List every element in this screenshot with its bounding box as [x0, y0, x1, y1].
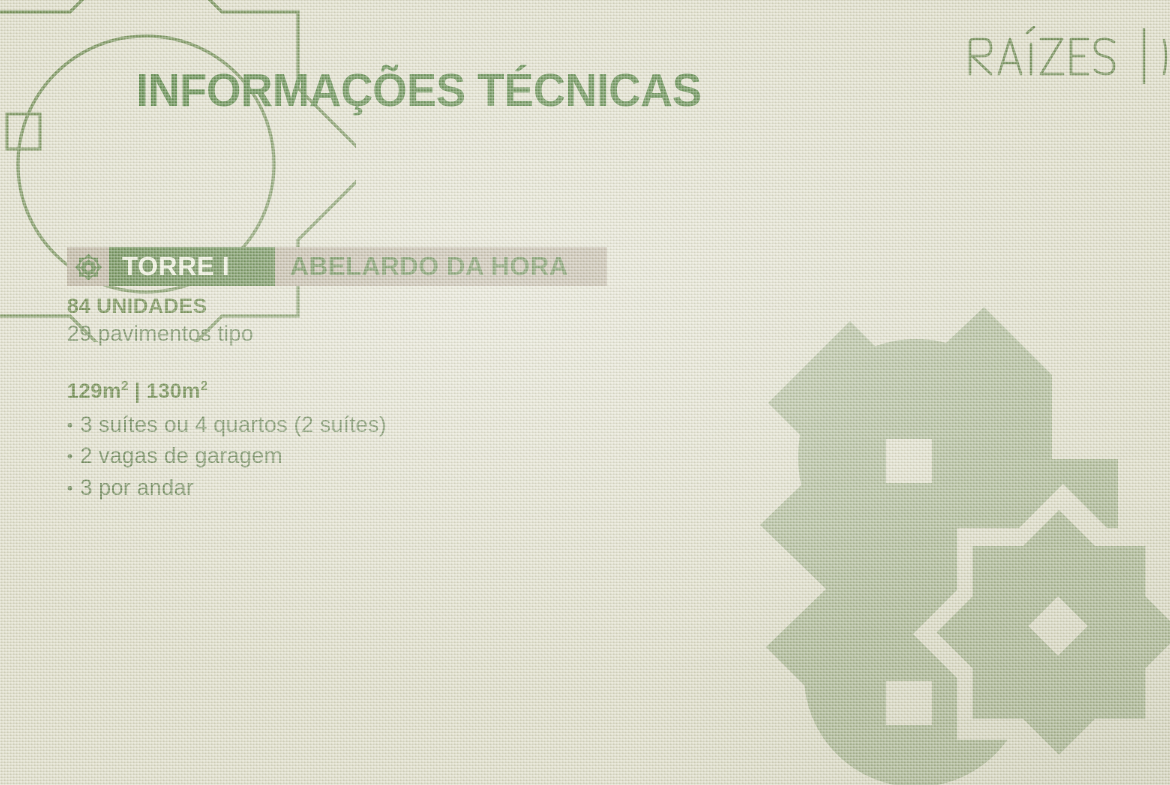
unit-areas: 129m2 | 130m2: [67, 378, 707, 404]
technical-info-content: TORRE I ABELARDO DA HORA 84 UNIDADES 29 …: [67, 247, 707, 503]
tower-banner: TORRE I ABELARDO DA HORA: [67, 247, 607, 286]
feature-text: 3 suítes ou 4 quartos (2 suítes): [80, 409, 386, 440]
feature-text: 3 por andar: [80, 472, 194, 503]
list-item: • 3 por andar: [67, 472, 707, 503]
slide-canvas: INFORMAÇÕES TÉCNICAS TORRE I A: [0, 0, 1170, 785]
feature-text: 2 vagas de garagem: [80, 440, 282, 471]
tower-name: ABELARDO DA HORA: [275, 251, 568, 282]
bullet-icon: •: [67, 448, 73, 465]
area-first: 129m: [67, 380, 121, 403]
page-title: INFORMAÇÕES TÉCNICAS: [136, 63, 701, 117]
tower-tag-label: TORRE I: [122, 251, 230, 282]
area-second: 130m: [146, 380, 200, 403]
units-count: 84 UNIDADES: [67, 295, 707, 319]
area-second-superscript: 2: [200, 378, 207, 393]
top-left-square-decoration: [5, 112, 43, 152]
tower-tag: TORRE I: [109, 247, 275, 286]
logo-divider-icon: [1134, 26, 1170, 88]
area-separator: |: [128, 380, 146, 403]
bottom-right-rosette-ornament: [756, 289, 1170, 785]
bullet-icon: •: [67, 417, 73, 434]
rosette-icon: [67, 247, 109, 286]
ornament-notch-square-bottom: [886, 681, 932, 725]
ornament-notch-square-top: [886, 439, 932, 483]
raizes-wordmark-icon: [964, 26, 1134, 88]
bullet-icon: •: [67, 480, 73, 497]
brand-logo[interactable]: [964, 26, 1170, 88]
list-item: • 2 vagas de garagem: [67, 440, 707, 471]
floors-count: 29 pavimentos tipo: [67, 321, 707, 347]
list-item: • 3 suítes ou 4 quartos (2 suítes): [67, 409, 707, 440]
features-list: • 3 suítes ou 4 quartos (2 suítes) • 2 v…: [67, 409, 707, 503]
